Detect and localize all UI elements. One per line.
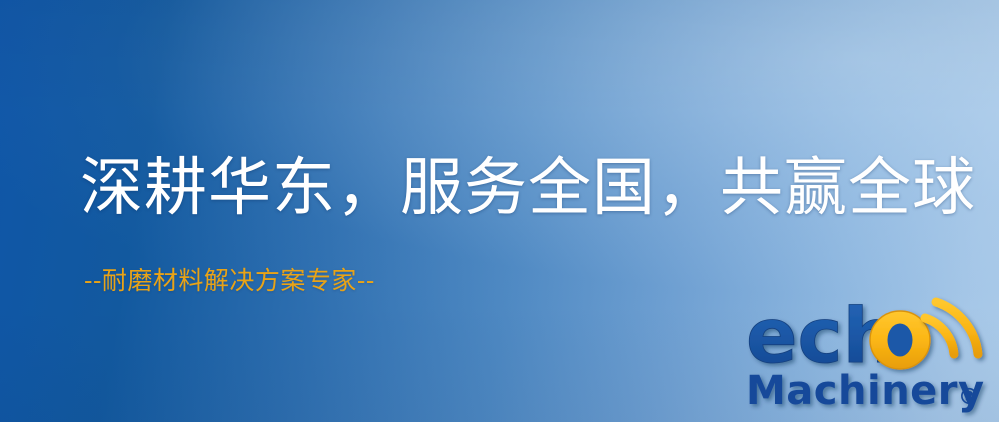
banner-headline: 深耕华东，服务全国，共赢全球: [80, 152, 976, 224]
echo-machinery-logo[interactable]: ech Machinery ®: [742, 292, 999, 422]
registered-trademark-icon: ®: [958, 385, 980, 410]
banner-subtitle: --耐磨材料解决方案专家--: [84, 266, 375, 296]
logo-svg: ech Machinery ®: [742, 292, 999, 422]
echo-wave-arcs-icon: [925, 302, 978, 354]
promo-banner: 深耕华东，服务全国，共赢全球 --耐磨材料解决方案专家--: [0, 0, 999, 422]
logo-wordmark-echo: ech: [746, 292, 930, 380]
logo-text-machinery: Machinery: [746, 368, 985, 414]
logo-tagline-group: Machinery ®: [746, 368, 985, 414]
